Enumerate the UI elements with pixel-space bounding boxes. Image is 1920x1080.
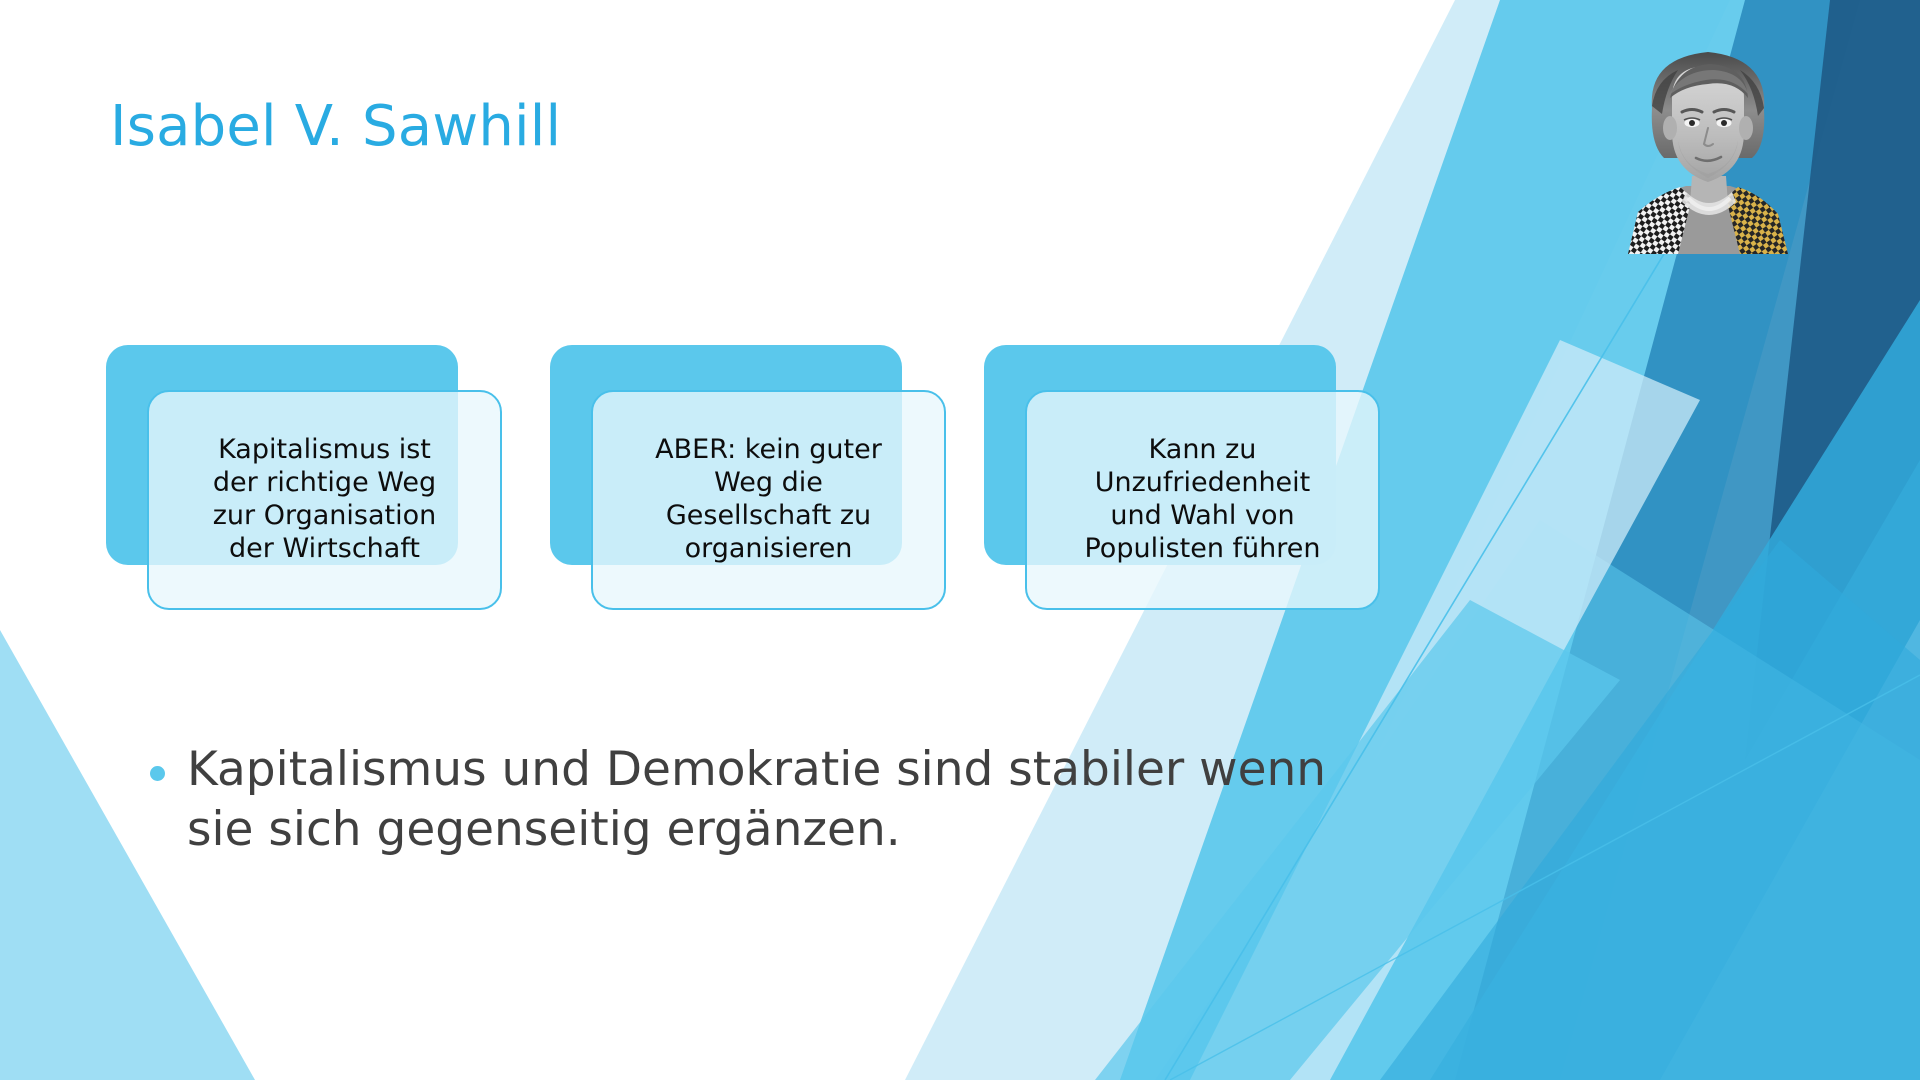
bullet-dot-icon: [150, 766, 165, 781]
bullet-list: Kapitalismus und Demokratie sind stabile…: [150, 740, 1330, 860]
concept-card-2[interactable]: ABER: kein guter Weg die Gesellschaft zu…: [550, 345, 905, 610]
slide-canvas: Isabel V. Sawhill Kapitalismus ist der r…: [0, 0, 1920, 1080]
portrait-photo: [1622, 36, 1794, 254]
bullet-text: Kapitalismus und Demokratie sind stabile…: [187, 740, 1330, 860]
concept-card-3[interactable]: Kann zu Unzufriedenheit und Wahl von Pop…: [984, 345, 1339, 610]
list-item: Kapitalismus und Demokratie sind stabile…: [150, 740, 1330, 860]
concept-card-1[interactable]: Kapitalismus ist der richtige Weg zur Or…: [106, 345, 461, 610]
card-row: Kapitalismus ist der richtige Weg zur Or…: [106, 345, 1406, 610]
card-text-3: Kann zu Unzufriedenheit und Wahl von Pop…: [1084, 434, 1320, 566]
card-text-1: Kapitalismus ist der richtige Weg zur Or…: [213, 434, 436, 566]
card-body-3: Kann zu Unzufriedenheit und Wahl von Pop…: [1025, 390, 1380, 610]
card-body-2: ABER: kein guter Weg die Gesellschaft zu…: [591, 390, 946, 610]
card-body-1: Kapitalismus ist der richtige Weg zur Or…: [147, 390, 502, 610]
decor-hairline-diagonal: [1170, 675, 1920, 1080]
page-title: Isabel V. Sawhill: [110, 96, 1310, 158]
decor-band-light-lower: [1380, 540, 1920, 1080]
decor-band-mid: [1430, 300, 1920, 1080]
portrait-illustration: [1622, 36, 1794, 254]
card-text-2: ABER: kein guter Weg die Gesellschaft zu…: [655, 434, 882, 566]
